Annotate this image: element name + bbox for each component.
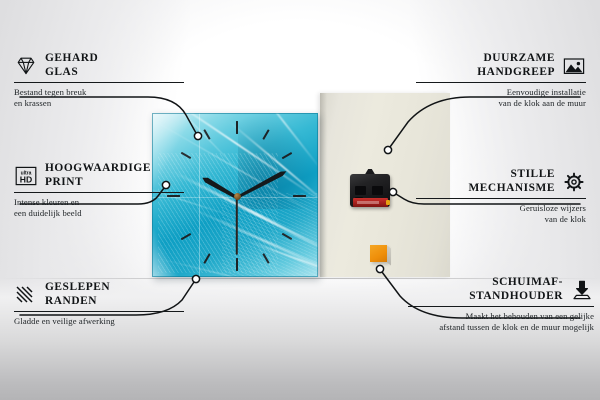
feature-header: GESLEPEN RANDEN (14, 281, 184, 308)
stamp-down-arrow-icon (570, 278, 594, 302)
feature-gehard-glas[interactable]: GEHARD GLAS Bestand tegen breuk en krass… (14, 52, 184, 109)
feature-description: Eenvoudige installatie van de klok aan d… (416, 87, 586, 109)
feature-hoogwaardige-print[interactable]: ultra HD HOOGWAARDIGE PRINT Intense kleu… (14, 162, 184, 219)
feature-description: Bestand tegen breuk en krassen (14, 87, 184, 109)
mechanism-vent (355, 186, 366, 195)
feature-divider (14, 311, 184, 312)
glass-reflection-line (199, 113, 200, 277)
feature-title: GEHARD GLAS (45, 52, 98, 79)
feature-stille-mechanisme[interactable]: STILLE MECHANISME (416, 168, 586, 225)
feature-divider (14, 82, 184, 83)
feature-title: STILLE MECHANISME (416, 168, 555, 195)
diamond-icon (14, 54, 38, 78)
clock-tick (236, 121, 238, 134)
clock-tick (236, 258, 238, 271)
feature-divider (408, 306, 594, 307)
feature-title: DUURZAME HANDGREEP (416, 52, 555, 79)
feature-header: GEHARD GLAS (14, 52, 184, 79)
clock-tick (293, 195, 306, 197)
diagonal-lines-icon (14, 283, 38, 307)
feature-header: STILLE MECHANISME (416, 168, 586, 195)
clock-second-hand (236, 197, 238, 254)
clock-center-cap (234, 193, 241, 200)
feature-description: Gladde en veilige afwerking (14, 316, 184, 327)
clock-mechanism (350, 169, 390, 207)
feature-divider (14, 192, 184, 193)
feature-description: Intense kleuren en een duidelijk beeld (14, 197, 184, 219)
gear-icon (562, 170, 586, 194)
ultra-hd-icon: ultra HD (14, 164, 38, 188)
feature-schuimaf-standhouder[interactable]: SCHUIMAF- STANDHOUDER Maakt het behouden… (408, 276, 594, 333)
feature-divider (416, 82, 586, 83)
feature-header: ultra HD HOOGWAARDIGE PRINT (14, 162, 184, 189)
mechanism-vent (372, 186, 383, 195)
feature-header: SCHUIMAF- STANDHOUDER (408, 276, 594, 303)
picture-frame-icon (562, 54, 586, 78)
battery-label (357, 201, 379, 204)
mechanism-body (350, 174, 390, 207)
feature-divider (416, 198, 586, 199)
feature-title: SCHUIMAF- STANDHOUDER (408, 276, 563, 303)
feature-title: GESLEPEN RANDEN (45, 281, 110, 308)
foam-spacer (370, 245, 387, 262)
infographic-stage: GEHARD GLAS Bestand tegen breuk en krass… (0, 0, 600, 400)
feature-geslepen-randen[interactable]: GESLEPEN RANDEN Gladde en veilige afwerk… (14, 281, 184, 327)
feature-title: HOOGWAARDIGE PRINT (45, 162, 151, 189)
feature-description: Maakt het behouden van een gelijke afsta… (408, 311, 594, 333)
svg-text:HD: HD (20, 174, 32, 184)
feature-header: DUURZAME HANDGREEP (416, 52, 586, 79)
feature-duurzame-handgreep[interactable]: DUURZAME HANDGREEP Eenvoudige installati… (416, 52, 586, 109)
battery (353, 198, 388, 207)
feature-description: Geruisloze wijzers van de klok (416, 203, 586, 225)
